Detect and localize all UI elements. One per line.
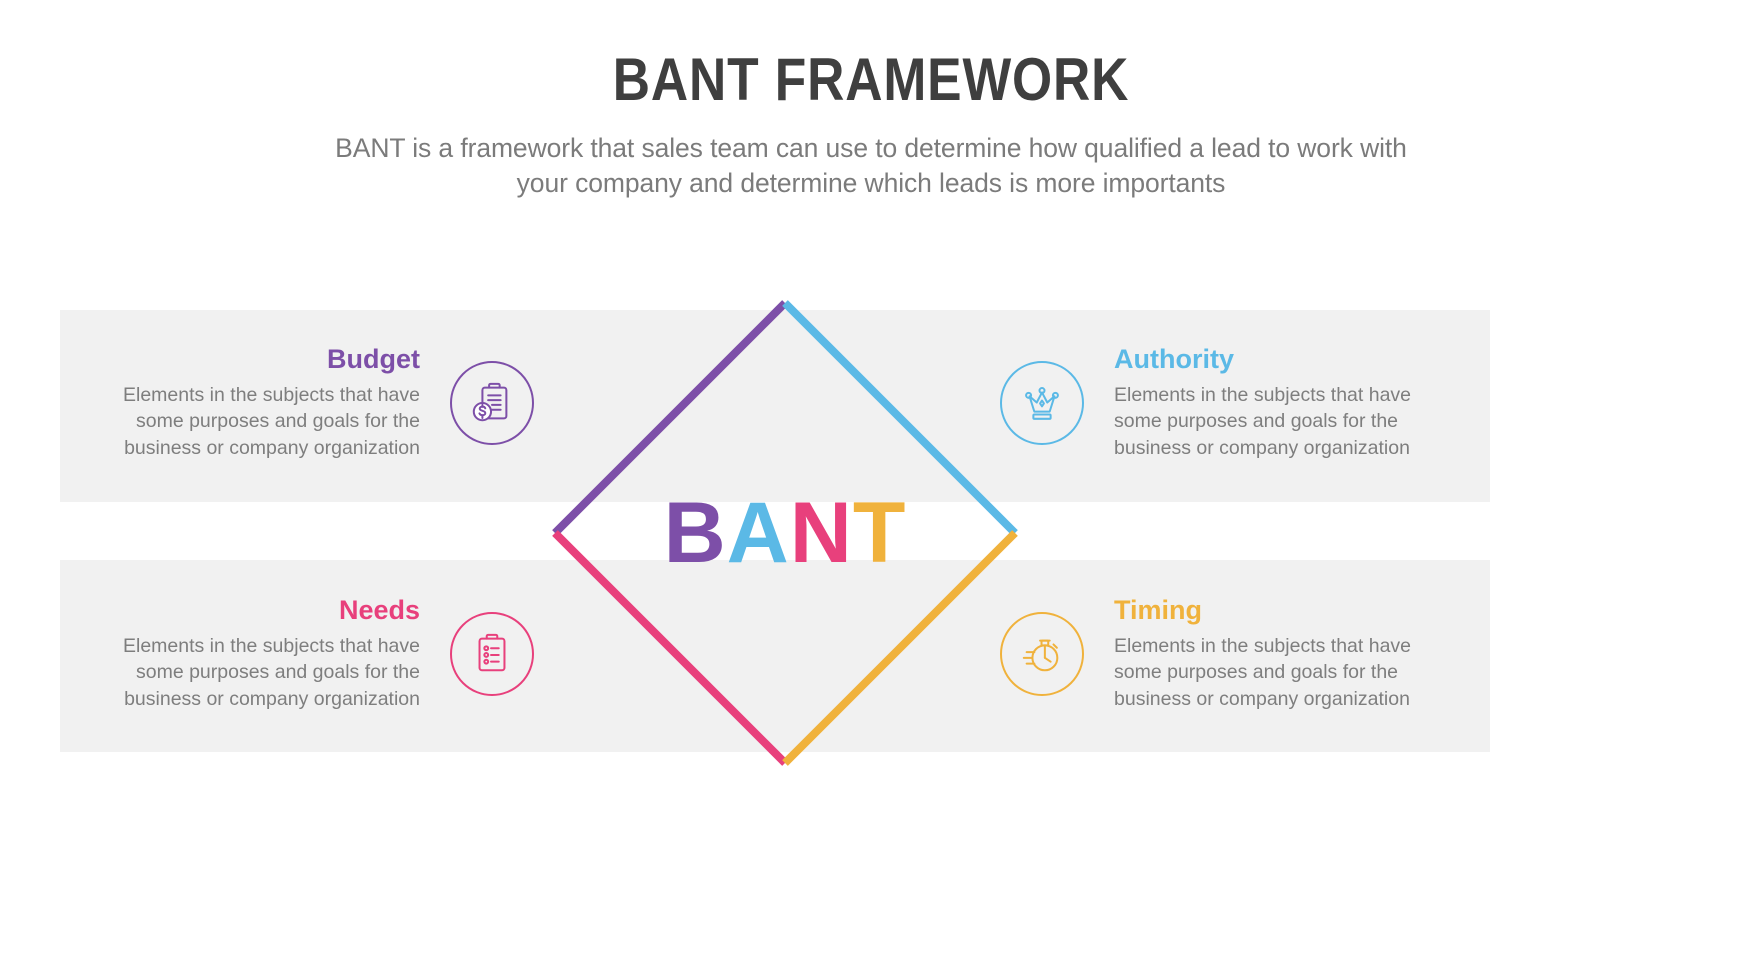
crown-icon [1019,380,1065,426]
header: BANT FRAMEWORK BANT is a framework that … [0,0,1742,201]
quadrant-needs-title: Needs [95,596,420,626]
quadrant-authority-title: Authority [1114,345,1439,375]
quadrant-budget-description: Elements in the subjects that have some … [95,382,420,462]
clipboard-dollar-icon [469,380,515,426]
page-subtitle: BANT is a framework that sales team can … [171,131,1571,201]
quadrant-needs-text: Needs Elements in the subjects that have… [95,596,420,713]
stopwatch-icon [1019,631,1065,677]
quadrant-timing-title: Timing [1114,596,1439,626]
bant-letter-a: A [727,490,790,576]
needs-icon-circle [450,612,534,696]
quadrant-authority-description: Elements in the subjects that have some … [1114,382,1439,462]
page-title: BANT FRAMEWORK [122,48,1620,111]
quadrant-authority[interactable]: Authority Elements in the subjects that … [1000,345,1470,462]
bant-letter-n: N [790,490,853,576]
quadrant-budget-title: Budget [95,345,420,375]
bant-wordmark: B A N T [548,296,1022,770]
quadrant-needs[interactable]: Needs Elements in the subjects that have… [95,596,565,713]
budget-icon-circle [450,361,534,445]
quadrant-needs-description: Elements in the subjects that have some … [95,633,420,713]
quadrant-budget[interactable]: Budget Elements in the subjects that hav… [95,345,565,462]
subtitle-line-1: BANT is a framework that sales team can … [171,131,1571,166]
quadrant-timing[interactable]: Timing Elements in the subjects that hav… [1000,596,1470,713]
subtitle-line-2: your company and determine which leads i… [171,166,1571,201]
quadrant-authority-text: Authority Elements in the subjects that … [1114,345,1439,462]
bant-letter-t: T [853,490,907,576]
bant-letter-b: B [664,490,727,576]
clipboard-checklist-icon [469,631,515,677]
center-diamond: B A N T [548,296,1022,770]
quadrant-timing-description: Elements in the subjects that have some … [1114,633,1439,713]
infographic-page: BANT FRAMEWORK BANT is a framework that … [0,0,1742,980]
quadrant-timing-text: Timing Elements in the subjects that hav… [1114,596,1439,713]
quadrant-budget-text: Budget Elements in the subjects that hav… [95,345,420,462]
